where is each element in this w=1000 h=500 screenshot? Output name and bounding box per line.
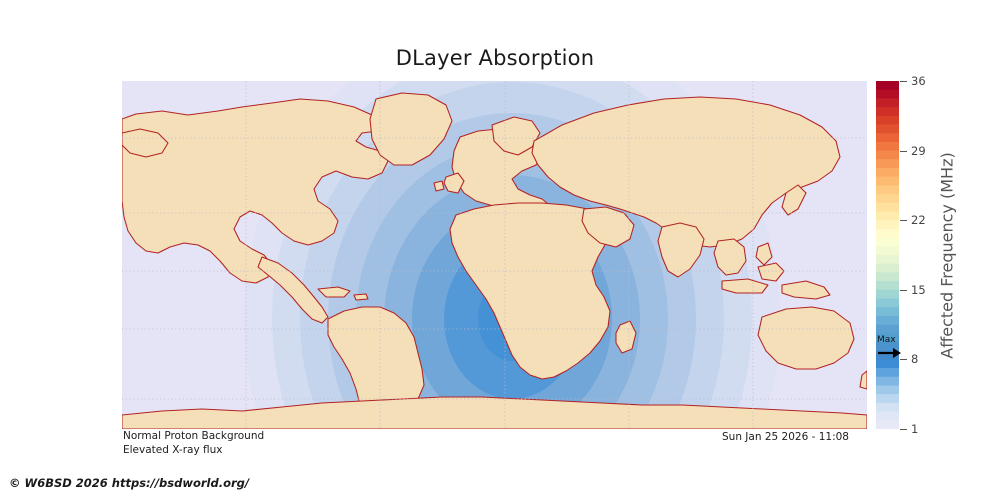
colorbar-swatch bbox=[876, 351, 899, 360]
colorbar-tick-mark bbox=[900, 429, 907, 430]
colorbar-swatch bbox=[876, 342, 899, 351]
colorbar-swatch bbox=[876, 394, 899, 403]
colorbar-tick-mark bbox=[900, 81, 907, 82]
colorbar-swatch bbox=[876, 229, 899, 238]
land-hispaniola bbox=[354, 294, 368, 300]
colorbar-swatch bbox=[876, 185, 899, 194]
colorbar-swatch bbox=[876, 316, 899, 325]
colorbar-swatch bbox=[876, 220, 899, 229]
colorbar-swatch bbox=[876, 151, 899, 160]
colorbar-swatch bbox=[876, 420, 899, 429]
copyright-notice: © W6BSD 2026 https://bsdworld.org/ bbox=[9, 476, 249, 490]
colorbar-swatch bbox=[876, 412, 899, 421]
colorbar-swatch bbox=[876, 90, 899, 99]
colorbar-axis-label: Affected Frequency (MHz) bbox=[936, 81, 958, 429]
note-proton-background: Normal Proton Background bbox=[123, 430, 264, 442]
colorbar-swatch bbox=[876, 281, 899, 290]
colorbar-swatch bbox=[876, 177, 899, 186]
colorbar-tick-mark bbox=[900, 220, 907, 221]
colorbar[interactable] bbox=[876, 81, 899, 429]
note-xray-flux: Elevated X-ray flux bbox=[123, 444, 222, 456]
colorbar-tick-label: 22 bbox=[911, 213, 926, 227]
colorbar-swatch bbox=[876, 246, 899, 255]
colorbar-swatch bbox=[876, 368, 899, 377]
colorbar-tick-label: 36 bbox=[911, 74, 926, 88]
colorbar-swatch bbox=[876, 255, 899, 264]
colorbar-swatch bbox=[876, 159, 899, 168]
colorbar-swatch bbox=[876, 116, 899, 125]
colorbar-swatch bbox=[876, 377, 899, 386]
colorbar-swatch bbox=[876, 194, 899, 203]
colorbar-swatch bbox=[876, 133, 899, 142]
colorbar-tick-mark bbox=[900, 151, 907, 152]
colorbar-swatch bbox=[876, 290, 899, 299]
colorbar-swatch bbox=[876, 203, 899, 212]
colorbar-tick-label: 1 bbox=[911, 422, 918, 436]
page-title: DLayer Absorption bbox=[0, 46, 990, 70]
colorbar-swatch bbox=[876, 307, 899, 316]
note-timestamp: Sun Jan 25 2026 - 11:08 bbox=[722, 431, 849, 443]
colorbar-swatch bbox=[876, 98, 899, 107]
colorbar-swatch bbox=[876, 386, 899, 395]
colorbar-tick-label: 8 bbox=[911, 352, 918, 366]
colorbar-swatch bbox=[876, 212, 899, 221]
colorbar-swatch bbox=[876, 325, 899, 334]
colorbar-swatch bbox=[876, 168, 899, 177]
map-canvas bbox=[122, 81, 867, 429]
colorbar-swatch bbox=[876, 238, 899, 247]
land-ireland bbox=[434, 181, 444, 191]
colorbar-swatch bbox=[876, 299, 899, 308]
colorbar-axis-label-text: Affected Frequency (MHz) bbox=[938, 152, 957, 358]
colorbar-swatch bbox=[876, 264, 899, 273]
colorbar-tick-label: 29 bbox=[911, 144, 926, 158]
world-map-panel[interactable] bbox=[122, 81, 867, 429]
colorbar-gradient bbox=[876, 81, 899, 429]
colorbar-swatch bbox=[876, 81, 899, 90]
colorbar-swatch bbox=[876, 333, 899, 342]
colorbar-swatch bbox=[876, 272, 899, 281]
colorbar-swatch bbox=[876, 125, 899, 134]
colorbar-tick-label: 15 bbox=[911, 283, 926, 297]
colorbar-tick-mark bbox=[900, 290, 907, 291]
colorbar-swatch bbox=[876, 359, 899, 368]
colorbar-swatch bbox=[876, 107, 899, 116]
colorbar-swatch bbox=[876, 142, 899, 151]
colorbar-tick-mark bbox=[900, 359, 907, 360]
colorbar-swatch bbox=[876, 403, 899, 412]
